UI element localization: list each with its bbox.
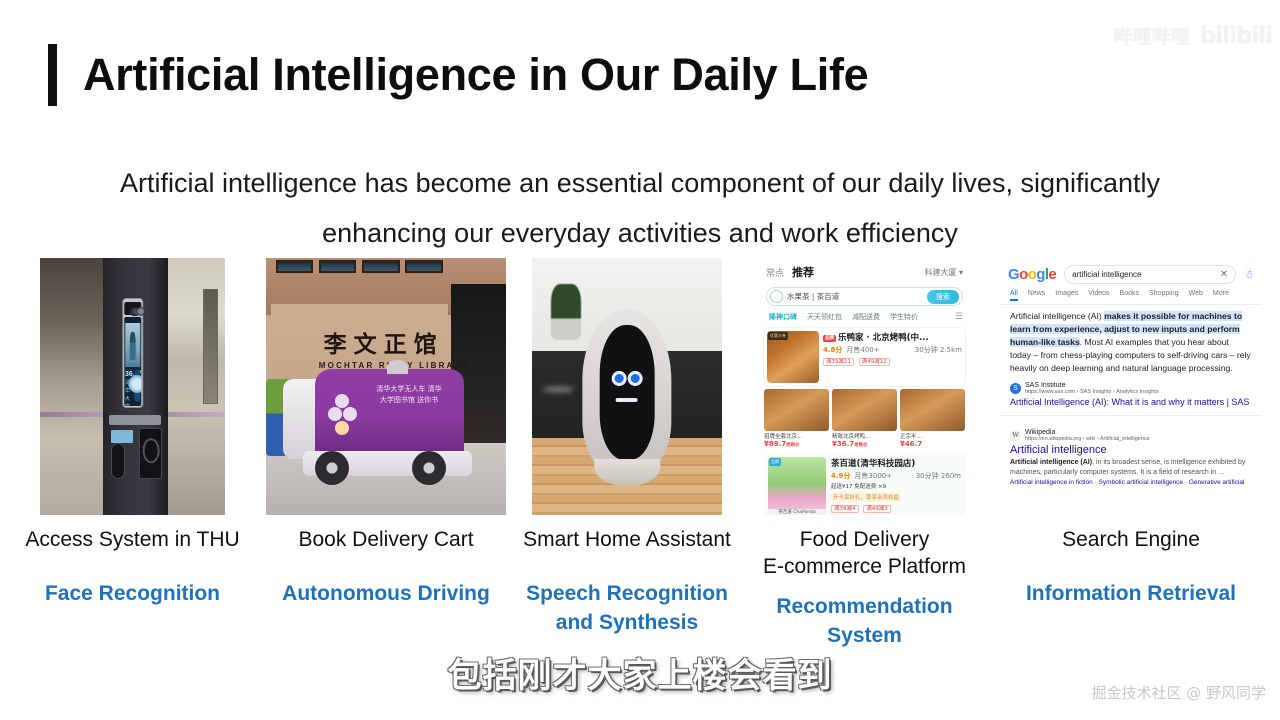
shop-meta: 4.9分 月售3000+ 30分钟 260m (831, 471, 961, 481)
shop-rating: 4.8分 (823, 345, 842, 355)
shop-badge: 品牌 (823, 335, 836, 342)
fingerprint-reader (111, 443, 125, 479)
tab-web[interactable]: Web (1189, 290, 1203, 301)
snippet-pre: Artificial intelligence (AI) (1010, 311, 1104, 321)
sensor-icon (136, 307, 145, 316)
dish-item[interactable]: 正宗半... ¥46.7 (900, 389, 965, 448)
shop-card[interactable]: 品牌 茶百道 ChaPanda 茶百道(清华科技园店) 4.9分 月售3000+… (764, 453, 965, 515)
shop-info: 茶百道(清华科技园店) 4.9分 月售3000+ 30分钟 260m 起送¥17… (831, 457, 961, 515)
lobby-left-wall (40, 258, 103, 515)
kiosk-column: 36.5°C 清华大学 (103, 258, 168, 515)
example-card-information-retrieval: Google artificial intelligence ✕ ☃ All N… (982, 258, 1280, 608)
matched-avatar (135, 370, 141, 402)
slide-title-row: Artificial Intelligence in Our Daily Lif… (48, 44, 868, 106)
google-search-screen: Google artificial intelligence ✕ ☃ All N… (1000, 258, 1262, 515)
tab-news[interactable]: News (1028, 290, 1046, 301)
cabinet-highlight (543, 387, 573, 391)
result-title-link[interactable]: Artificial Intelligence (AI): What it is… (1000, 395, 1262, 407)
food-delivery-app-screen: 常点 推荐 科建大厦 ▾ 水果茶 | 茶百道 搜索 降神口碑 天天领红包 减配送… (758, 258, 971, 515)
coupon: 满49减3 (863, 505, 891, 513)
logo-dot (335, 394, 349, 408)
card-caption: Food Delivery E-commerce Platform (747, 526, 982, 580)
shop-member-promo: 开卡享好礼，尊享会员权益 (831, 492, 901, 502)
card-reader (139, 428, 162, 479)
thumbnail-food-delivery-app: 常点 推荐 科建大厦 ▾ 水果茶 | 茶百道 搜索 降神口碑 天天领红包 减配送… (758, 258, 971, 515)
menu-icon[interactable]: ☰ (955, 312, 963, 322)
cart-wheel (315, 451, 349, 485)
shop-brand-label: 茶百道 ChaPanda (768, 509, 826, 515)
clear-icon[interactable]: ✕ (1220, 269, 1228, 280)
cart-logo-cluster (327, 394, 359, 444)
coupon: 满39减11 (823, 358, 854, 366)
shop-image-badge: 优惠大券 (768, 332, 788, 340)
search-icon (770, 290, 783, 303)
card-caption-line-1: Food Delivery (747, 526, 982, 553)
dish-name: 精致北京烤鸭... (832, 432, 897, 440)
bilibili-watermark: 哔哩哔哩 bilibili (1114, 22, 1272, 49)
shop-image-badge: 品牌 (769, 458, 781, 466)
tab-frequent[interactable]: 常点 (766, 266, 784, 279)
filter-chip[interactable]: 减配送费 (849, 311, 883, 323)
filter-chip[interactable]: 学生特价 (887, 311, 921, 323)
card-caption: Search Engine (982, 526, 1280, 553)
burned-in-subtitle: 包括刚才大家上楼会看到 (0, 648, 1280, 697)
bilibili-cn-label: 哔哩哔哩 (1114, 22, 1190, 49)
wikipedia-favicon-icon: W (1010, 430, 1021, 441)
location-selector[interactable]: 科建大厦 ▾ (924, 267, 963, 278)
google-tab-row: All News Images Videos Books Shopping We… (1000, 286, 1262, 304)
google-search-input[interactable]: artificial intelligence ✕ (1064, 265, 1236, 284)
slide-canvas: 哔哩哔哩 bilibili Artificial Intelligence in… (0, 0, 1280, 720)
shop-name: 品牌乐鸭家 · 北京烤鸭(中... (823, 331, 962, 343)
page-title: Artificial Intelligence in Our Daily Lif… (83, 49, 868, 101)
dish-thumbnail (900, 389, 965, 431)
window (362, 260, 400, 272)
card-tag: Autonomous Driving (265, 579, 507, 608)
kitchen-scene (532, 258, 722, 515)
tab-images[interactable]: Images (1055, 290, 1078, 301)
example-card-speech: Smart Home Assistant Speech Recognition … (507, 258, 747, 637)
library-scene: 李文正馆 MOCHTAR RIADY LIBRARY 清华大学无人车 清华大学图… (266, 258, 506, 515)
card-tag: Face Recognition (0, 579, 265, 608)
filter-chip[interactable]: 降神口碑 (766, 311, 800, 323)
window (319, 260, 357, 272)
shop-delivery-eta: 30分钟 2.5km (915, 345, 962, 355)
featured-snippet: Artificial intelligence (AI) makes it po… (1000, 310, 1262, 375)
card-caption: Access System in THU (0, 526, 265, 553)
result-sitelinks[interactable]: Artificial intelligence in fiction · Sym… (1000, 478, 1262, 486)
examples-row: 36.5°C 清华大学 Access System in THU (0, 258, 1280, 650)
tab-all[interactable]: All (1010, 290, 1018, 301)
thumbnail-search-engine: Google artificial intelligence ✕ ☃ All N… (1000, 258, 1262, 515)
thumbnail-book-delivery-cart: 李文正馆 MOCHTAR RIADY LIBRARY 清华大学无人车 清华大学图… (266, 258, 506, 515)
shop-coupons: 满39减11 满49减12 (823, 357, 962, 365)
card-tag: Information Retrieval (982, 579, 1280, 608)
result-url: https://www.sas.com › SAS Insights › Ana… (1025, 389, 1159, 395)
result-title-link[interactable]: Artificial intelligence (1000, 442, 1262, 456)
shop-monthly-sales: 月售3000+ (854, 471, 892, 481)
search-button[interactable]: 搜索 (927, 290, 959, 304)
coupon: 满39减4 (831, 505, 859, 513)
shop-coupons: 满39减4 满49减3 (831, 504, 961, 512)
title-accent-bar (48, 44, 57, 106)
dish-thumbnail (832, 389, 897, 431)
dish-price: ¥89.7抢购价 (764, 440, 829, 448)
thumbnail-access-system: 36.5°C 清华大学 (40, 258, 225, 515)
filter-chip[interactable]: 天天领红包 (804, 311, 845, 323)
dish-item[interactable]: 招牌全套北京... ¥89.7抢购价 (764, 389, 829, 448)
search-query-text: artificial intelligence (1072, 270, 1141, 279)
result-source: S SAS Institute https://www.sas.com › SA… (1000, 375, 1262, 395)
shop-name: 茶百道(清华科技园店) (831, 457, 961, 469)
result-site-name: Wikipedia (1025, 429, 1150, 436)
delivery-cart: 清华大学无人车 清华大学图书馆 送你书 (283, 369, 485, 477)
app-search-bar[interactable]: 水果茶 | 茶百道 搜索 (766, 287, 963, 306)
lidar-dome (387, 360, 408, 374)
mascot-icon (335, 421, 349, 435)
corner-watermark: 掘金技术社区 @ 野风同学 (1091, 682, 1266, 703)
sas-favicon-icon: S (1010, 383, 1021, 394)
tab-more[interactable]: More (1213, 290, 1229, 301)
camera-strip (124, 302, 141, 315)
filter-chip-row: 降神口碑 天天领红包 减配送费 学生特价 ☰ (758, 306, 971, 325)
thumbnail-smart-home-assistant (532, 258, 722, 515)
dish-price: ¥46.7 (900, 440, 965, 448)
detected-person (130, 332, 135, 359)
card-tag: Speech Recognition and Synthesis (507, 579, 747, 637)
kiosk-badge-label (111, 430, 133, 443)
face-recognition-display: 36.5°C 清华大学 (124, 317, 141, 406)
card-caption: Book Delivery Cart (265, 526, 507, 553)
tab-books[interactable]: Books (1120, 290, 1139, 301)
camera-feed (125, 323, 140, 367)
assistant-robot (582, 309, 671, 479)
shop-card[interactable]: 优惠大券 品牌乐鸭家 · 北京烤鸭(中... 4.8分 月售400+ 30分钟 … (764, 328, 965, 386)
card-caption-line-2: E-commerce Platform (747, 553, 982, 580)
google-search-header: Google artificial intelligence ✕ ☃ (1000, 258, 1262, 286)
result-site-name: SAS Institute (1025, 382, 1159, 389)
dish-name: 招牌全套北京... (764, 432, 829, 440)
dish-price: ¥36.7抢购价 (832, 440, 897, 448)
kiosk-scene: 36.5°C 清华大学 (40, 258, 225, 515)
result-description: Artificial intelligence (AI), in its bro… (1000, 456, 1262, 478)
dish-thumbnail (764, 389, 829, 431)
slide-lead-paragraph: Artificial intelligence has become an es… (60, 158, 1220, 258)
robot-eye-right-icon (628, 371, 643, 386)
shop-name-text: 乐鸭家 · 北京烤鸭(中... (838, 333, 929, 343)
bilibili-logo-text: bilibili (1200, 23, 1272, 49)
tab-videos[interactable]: Videos (1088, 290, 1109, 301)
shop-thumbnail: 品牌 茶百道 ChaPanda (768, 457, 826, 515)
shop-meta: 4.8分 月售400+ 30分钟 2.5km (823, 345, 962, 355)
dish-item[interactable]: 精致北京烤鸭... ¥36.7抢购价 (832, 389, 897, 448)
coupon: 满49减12 (859, 358, 890, 366)
glass-door (203, 289, 218, 404)
shop-monthly-sales: 月售400+ (846, 345, 879, 355)
divider (1000, 415, 1262, 416)
tab-recommended[interactable]: 推荐 (792, 264, 814, 280)
search-input[interactable]: 水果茶 | 茶百道 (787, 291, 927, 302)
result-description-bold: Artificial intelligence (AI) (1010, 459, 1092, 466)
divider (1000, 304, 1262, 305)
result-source: W Wikipedia https://en.wikipedia.org › w… (1000, 422, 1262, 442)
robot-eye-left-icon (611, 371, 626, 386)
cart-wheel (412, 451, 446, 485)
dish-row: 招牌全套北京... ¥89.7抢购价 精致北京烤鸭... ¥36.7抢购价 正宗… (764, 389, 965, 448)
example-card-autonomous-driving: 李文正馆 MOCHTAR RIADY LIBRARY 清华大学无人车 清华大学图… (265, 258, 507, 608)
tab-shopping[interactable]: Shopping (1149, 290, 1179, 301)
kiosk-screen: 36.5°C 清华大学 (123, 299, 142, 407)
google-logo: Google (1008, 266, 1056, 283)
robot-mouth-icon (616, 398, 638, 402)
example-card-face-recognition: 36.5°C 清华大学 Access System in THU (0, 258, 265, 608)
card-tag: Recommendation System (747, 592, 982, 650)
shop-delivery-fee: 起送¥17 免配送费 ×9 (831, 482, 961, 490)
window (276, 260, 314, 272)
microphone-icon[interactable]: ☃ (1244, 268, 1254, 281)
logo-dot (343, 407, 357, 421)
result-url: https://en.wikipedia.org › wiki › Artifi… (1025, 436, 1150, 442)
example-card-recommendation: 常点 推荐 科建大厦 ▾ 水果茶 | 茶百道 搜索 降神口碑 天天领红包 减配送… (747, 258, 982, 650)
cart-livery-text: 清华大学无人车 清华大学图书馆 送你书 (375, 384, 444, 406)
shop-rating: 4.9分 (831, 471, 850, 481)
dish-name: 正宗半... (900, 432, 965, 440)
logo-dot (328, 407, 342, 421)
lobby-right-hall (158, 258, 225, 515)
shop-delivery-eta: 30分钟 260m (916, 471, 961, 481)
card-caption: Smart Home Assistant (507, 526, 747, 553)
shop-info: 品牌乐鸭家 · 北京烤鸭(中... 4.8分 月售400+ 30分钟 2.5km… (823, 331, 962, 383)
robot-face-screen (599, 325, 654, 461)
kiosk-lower-panel (109, 415, 161, 425)
library-name-chinese: 李文正馆 (324, 325, 444, 359)
potted-plant (551, 284, 581, 341)
app-header: 常点 推荐 科建大厦 ▾ (758, 258, 971, 282)
shop-thumbnail: 优惠大券 (767, 331, 819, 383)
window (405, 260, 443, 272)
